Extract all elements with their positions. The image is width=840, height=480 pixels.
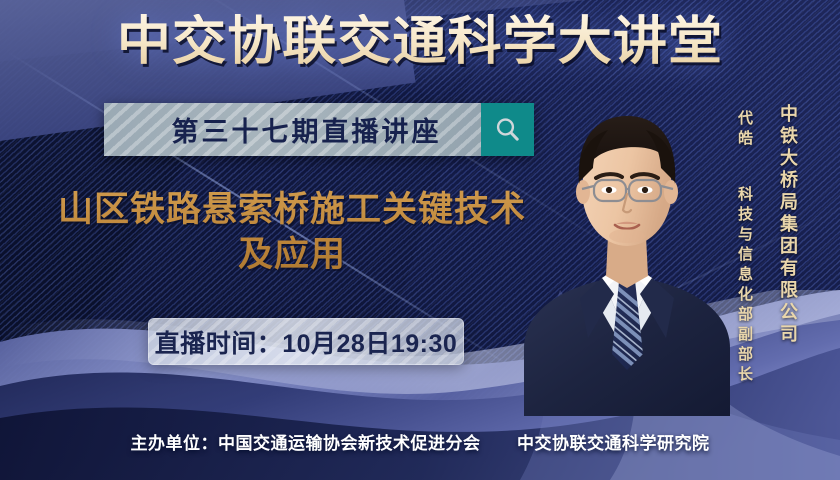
episode-label: 第三十七期直播讲座 [144,110,442,149]
topic-title-line1: 山区铁路悬索桥施工关键技术 [22,188,562,233]
footer-organizers: 主办单位：中国交通运输协会新技术促进分会 中交协联交通科学研究院 [0,429,840,454]
live-stream-poster: 中交协联交通科学大讲堂 第三十七期直播讲座 山区铁路悬索桥施工关键技术 及应用 … [0,0,840,480]
footer-organizer-primary: 主办单位：中国交通运输协会新技术促进分会 [131,434,481,453]
speaker-role: 科技与信息化部副部长 [735,186,756,386]
topic-title-line2: 及应用 [22,233,562,278]
speaker-name: 代皓 [735,110,756,150]
speaker-organization: 中铁大桥局集团有限公司 [774,104,800,346]
speaker-portrait [516,86,732,416]
episode-banner[interactable]: 第三十七期直播讲座 [104,103,534,156]
topic-title: 山区铁路悬索桥施工关键技术 及应用 [22,188,562,278]
live-time-badge: 直播时间：10月28日19:30 [148,318,464,365]
footer-organizer-secondary: 中交协联交通科学研究院 [517,434,710,453]
live-time-label: 直播时间：10月28日19:30 [155,324,458,360]
episode-banner-body: 第三十七期直播讲座 [104,103,481,156]
page-title: 中交协联交通科学大讲堂 [0,14,840,70]
